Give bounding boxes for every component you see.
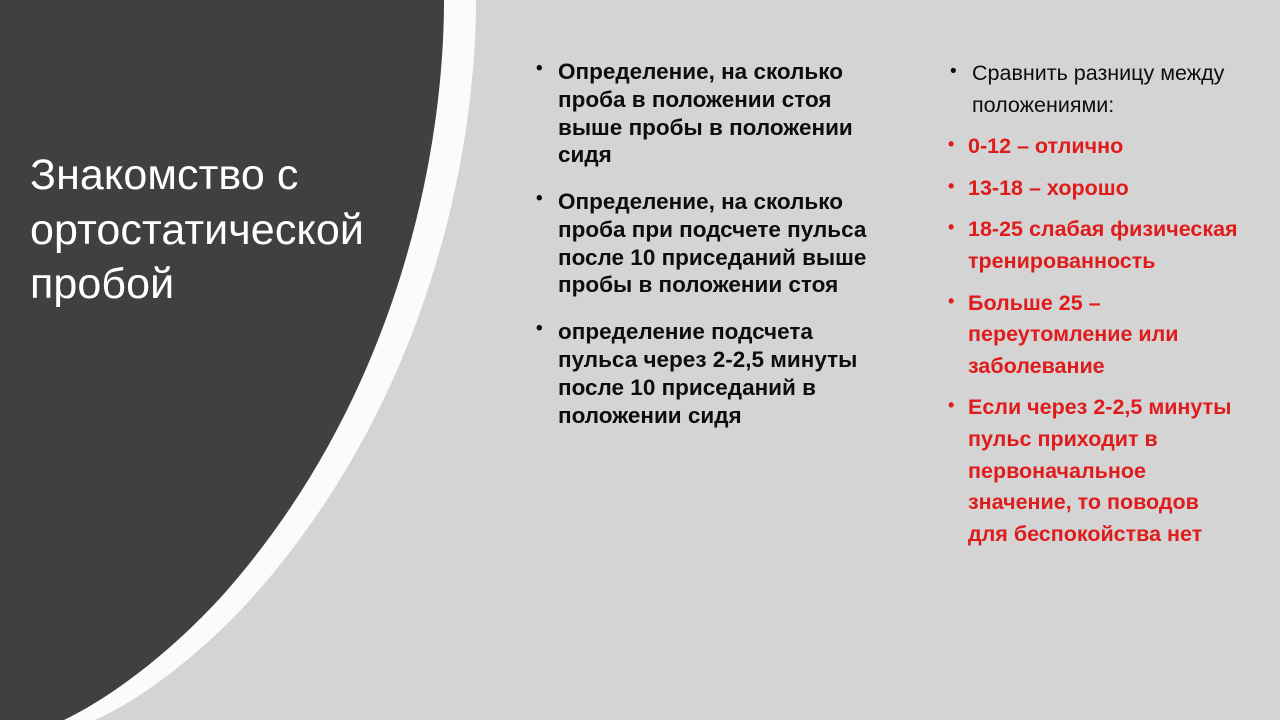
bullet-list-right: • Сравнить разницу между положениями: • … — [938, 58, 1238, 550]
dark-panel-shape — [0, 0, 444, 720]
bullet-list-middle: • Определение, на сколько проба в положе… — [528, 58, 868, 429]
list-item-label: Определение, на сколько проба в положени… — [558, 58, 868, 169]
bullet-point-icon: • — [948, 392, 954, 418]
list-item: • Определение, на сколько проба при подс… — [528, 188, 868, 299]
bullet-point-icon: • — [948, 173, 954, 199]
list-item-label: 13-18 – хорошо — [968, 173, 1238, 205]
list-item-label: Если через 2-2,5 минуты пульс приходит в… — [968, 392, 1238, 550]
list-item: • 18-25 слабая физическая тренированност… — [938, 214, 1238, 277]
bullet-point-icon: • — [948, 214, 954, 240]
list-item-label: Больше 25 – переутомление или заболевани… — [968, 288, 1238, 383]
page-title: Знакомство с ортостатической пробой — [30, 148, 415, 312]
slide: Знакомство с ортостатической пробой • Оп… — [0, 0, 1280, 720]
content-column-right: • Сравнить разницу между положениями: • … — [938, 58, 1238, 560]
list-item: • Сравнить разницу между положениями: — [938, 58, 1238, 121]
list-item-label: 0-12 – отлично — [968, 131, 1238, 163]
list-item-label: 18-25 слабая физическая тренированность — [968, 214, 1238, 277]
list-item-label: определение подсчета пульса через 2-2,5 … — [558, 318, 868, 429]
list-item: • определение подсчета пульса через 2-2,… — [528, 318, 868, 429]
list-item: • Больше 25 – переутомление или заболева… — [938, 288, 1238, 383]
list-item-label: Определение, на сколько проба при подсче… — [558, 188, 868, 299]
list-item: • Определение, на сколько проба в положе… — [528, 58, 868, 169]
list-item: • 0-12 – отлично — [938, 131, 1238, 163]
bullet-point-icon: • — [948, 131, 954, 157]
list-item: • Если через 2-2,5 минуты пульс приходит… — [938, 392, 1238, 550]
list-item-label: Сравнить разницу между положениями: — [972, 58, 1238, 121]
bullet-point-icon: • — [536, 317, 543, 340]
bullet-point-icon: • — [948, 288, 954, 314]
list-item: • 13-18 – хорошо — [938, 173, 1238, 205]
white-arc-stripe — [0, 0, 476, 720]
bullet-point-icon: • — [950, 58, 957, 86]
title-block: Знакомство с ортостатической пробой — [30, 148, 415, 312]
bullet-point-icon: • — [536, 187, 543, 210]
content-column-middle: • Определение, на сколько проба в положе… — [528, 58, 868, 448]
bullet-point-icon: • — [536, 57, 543, 80]
